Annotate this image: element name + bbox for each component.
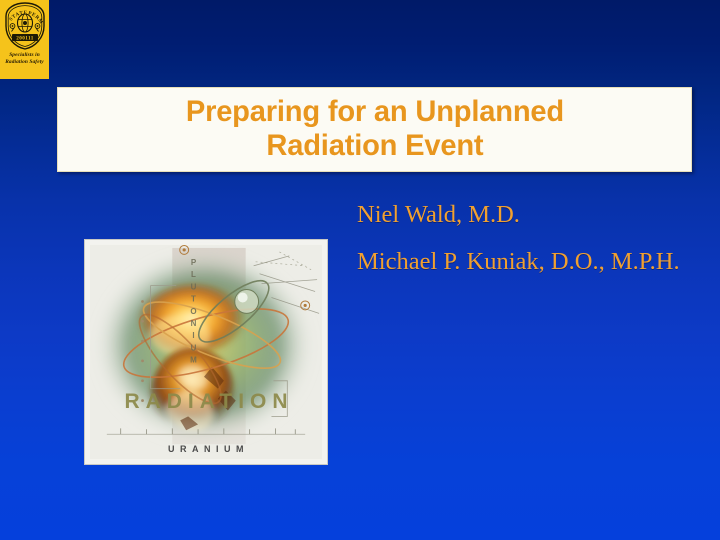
- logo-caption: Specialists in Radiation Safety: [0, 52, 49, 67]
- presentation-slide: STATE PERMIT 200111 Sp: [0, 0, 720, 540]
- radiation-illustration-art: [85, 240, 327, 464]
- badge-emblem-icon: STATE PERMIT 200111: [3, 2, 47, 50]
- author-list: Niel Wald, M.D. Michael P. Kuniak, D.O.,…: [357, 200, 697, 277]
- title-banner: Preparing for an Unplanned Radiation Eve…: [57, 87, 692, 172]
- page-title: Preparing for an Unplanned Radiation Eve…: [185, 95, 563, 165]
- radiation-illustration: PLUTONIUM RADIATION URANIUM: [84, 239, 328, 465]
- author-line: Niel Wald, M.D.: [357, 200, 697, 230]
- badge-bottom-text: 200111: [16, 36, 33, 42]
- author-line: Michael P. Kuniak, D.O., M.P.H.: [357, 247, 697, 277]
- organization-logo: STATE PERMIT 200111 Sp: [0, 0, 49, 79]
